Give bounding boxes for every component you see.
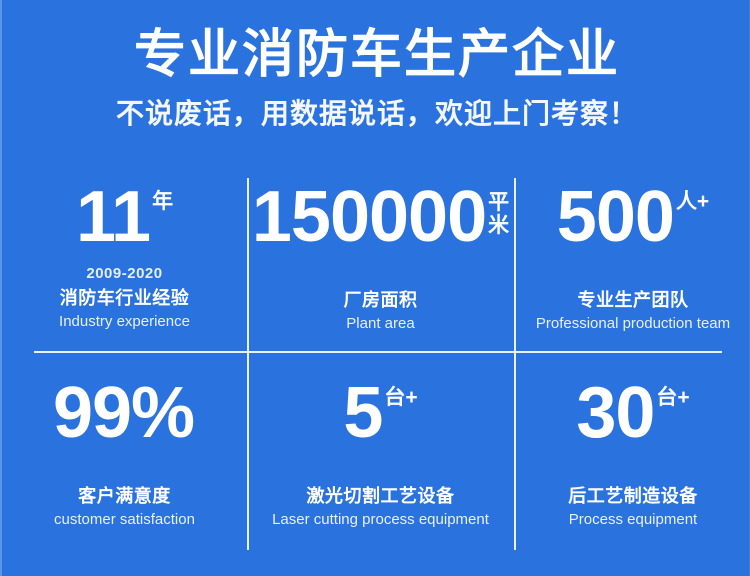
stat-cell-laser-cutting-equipment: 5 台+ 激光切割工艺设备 Laser cutting process equi… bbox=[247, 368, 514, 548]
stats-row-bottom: 99% 客户满意度 customer satisfaction 5 台+ 激光切… bbox=[2, 368, 750, 548]
stat-label-cn: 专业生产团队 bbox=[578, 288, 689, 312]
stat-unit: 台+ bbox=[384, 387, 417, 409]
divider-horizontal bbox=[34, 351, 722, 353]
stat-number: 150000 bbox=[252, 178, 486, 256]
stat-label-en: Process equipment bbox=[569, 510, 697, 530]
stat-number: 30 bbox=[576, 374, 654, 452]
stat-unit: 台+ bbox=[656, 387, 689, 409]
stat-unit: 年 bbox=[152, 191, 173, 213]
stat-number: 99% bbox=[53, 374, 194, 452]
page-title: 专业消防车生产企业 bbox=[2, 24, 750, 86]
stat-cell-production-team: 500 人+ 专业生产团队 Professional production te… bbox=[514, 172, 750, 352]
page-subtitle: 不说废话，用数据说话，欢迎上门考察！ bbox=[2, 96, 750, 132]
divider-vertical-right bbox=[514, 178, 516, 550]
stat-label-en: Laser cutting process equipment bbox=[272, 510, 489, 530]
stat-label-en: Industry experience bbox=[59, 312, 190, 332]
stat-label-en: Plant area bbox=[346, 314, 414, 334]
stat-value: 500 人+ bbox=[557, 178, 709, 262]
stat-label-cn: 厂房面积 bbox=[344, 288, 418, 312]
stat-number: 11 bbox=[76, 178, 150, 256]
stat-label-cn: 后工艺制造设备 bbox=[568, 484, 698, 508]
stat-value: 30 台+ bbox=[576, 374, 689, 458]
stat-cell-customer-satisfaction: 99% 客户满意度 customer satisfaction bbox=[2, 368, 247, 548]
promo-banner: 专业消防车生产企业 不说废话，用数据说话，欢迎上门考察！ 11 年 2009-2… bbox=[0, 0, 750, 576]
stat-cell-plant-area: 150000 平 米 厂房面积 Plant area bbox=[247, 172, 514, 352]
stats-grid: 11 年 2009-2020 消防车行业经验 Industry experien… bbox=[2, 172, 750, 554]
stat-cell-process-equipment: 30 台+ 后工艺制造设备 Process equipment bbox=[514, 368, 750, 548]
divider-vertical-left bbox=[247, 178, 249, 550]
stat-label-en: customer satisfaction bbox=[54, 510, 195, 530]
stat-cell-industry-experience: 11 年 2009-2020 消防车行业经验 Industry experien… bbox=[2, 172, 247, 352]
stat-value: 99% bbox=[53, 374, 196, 458]
stat-value: 11 年 bbox=[76, 178, 173, 262]
stat-value: 5 台+ bbox=[343, 374, 417, 458]
stat-unit: 人+ bbox=[676, 191, 709, 213]
banner-header: 专业消防车生产企业 不说废话，用数据说话，欢迎上门考察！ bbox=[2, 24, 750, 132]
stat-unit: 平 米 bbox=[488, 191, 509, 237]
stat-label-cn: 激光切割工艺设备 bbox=[307, 484, 455, 508]
stat-number: 5 bbox=[343, 374, 382, 452]
stat-label-cn: 消防车行业经验 bbox=[60, 286, 190, 310]
stat-year-range: 2009-2020 bbox=[86, 264, 162, 283]
stat-label-cn: 客户满意度 bbox=[78, 484, 171, 508]
stat-label-en: Professional production team bbox=[536, 314, 730, 334]
stat-value: 150000 平 米 bbox=[252, 178, 509, 262]
stats-row-top: 11 年 2009-2020 消防车行业经验 Industry experien… bbox=[2, 172, 750, 352]
stat-number: 500 bbox=[557, 178, 674, 256]
